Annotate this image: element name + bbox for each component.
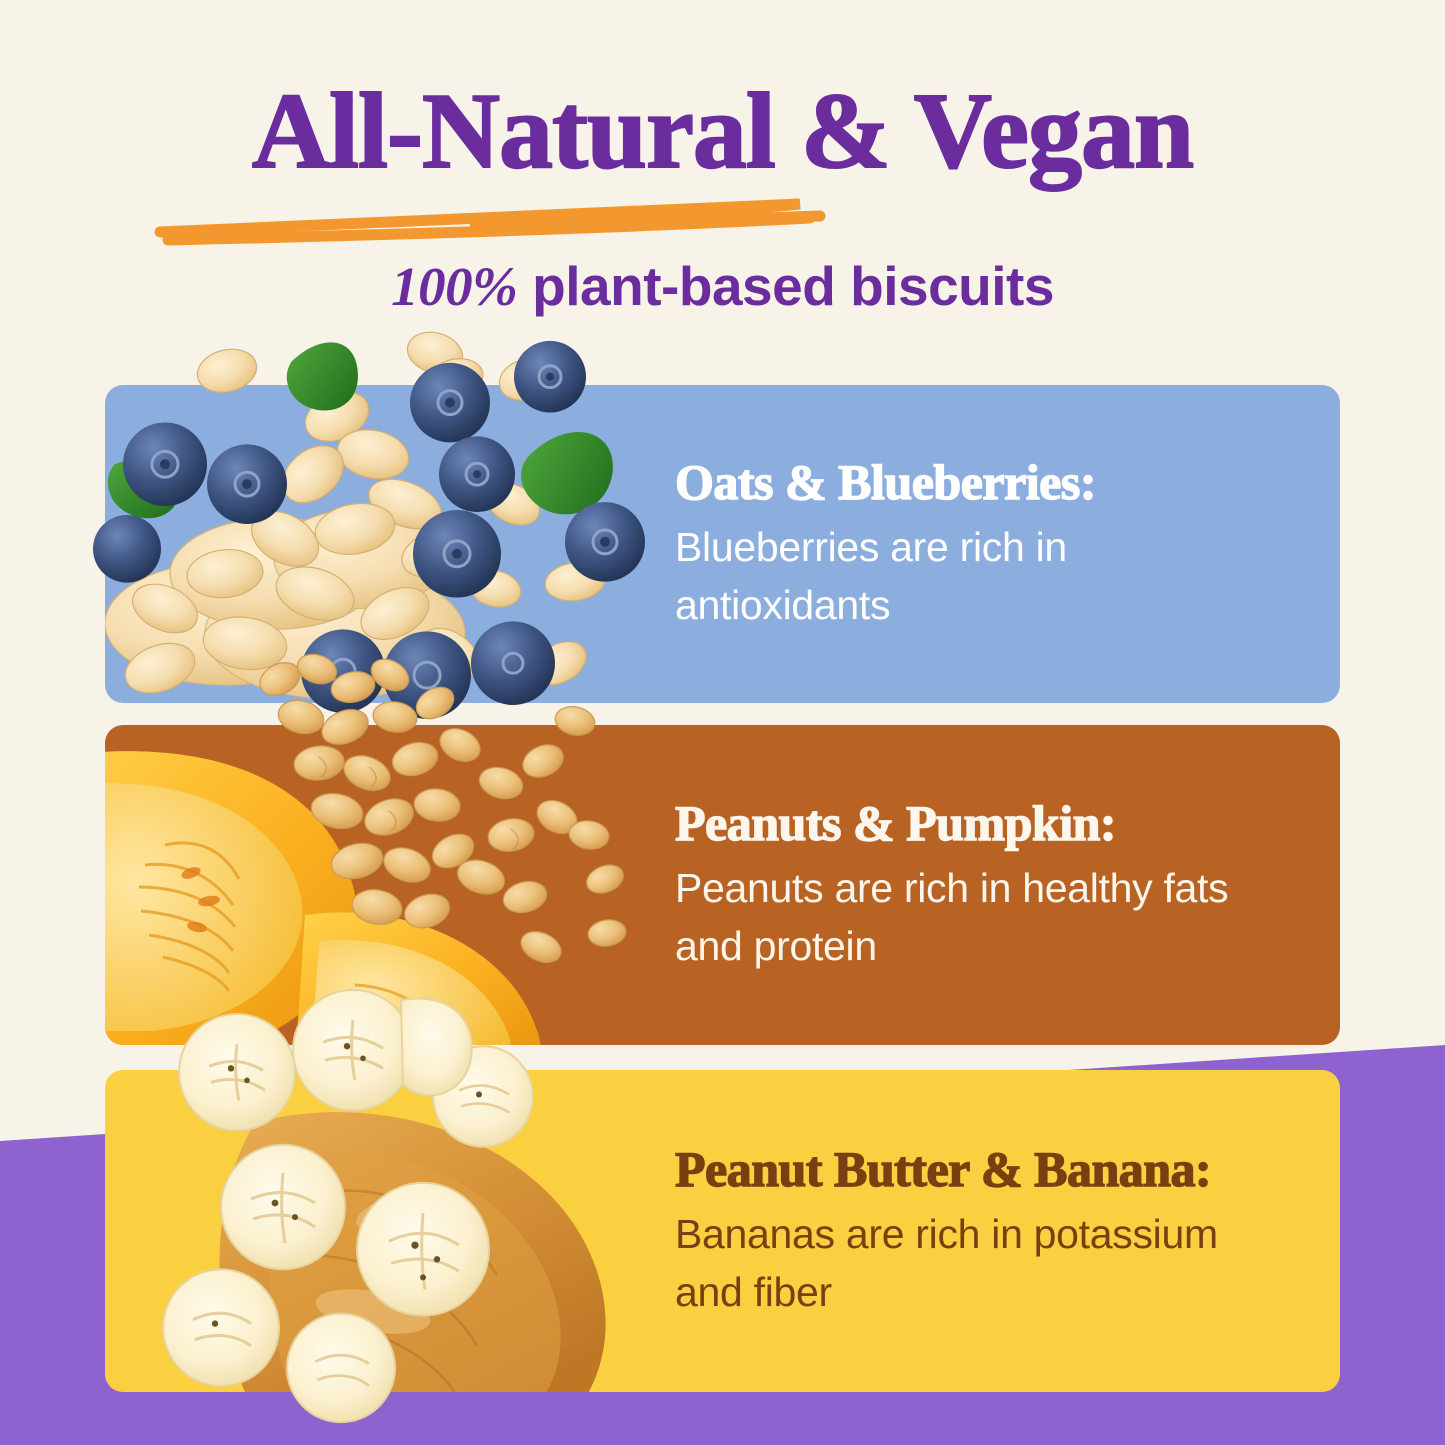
card-description: Bananas are rich in potassium and fiber bbox=[675, 1205, 1280, 1321]
subtitle-rest: plant-based biscuits bbox=[517, 255, 1054, 317]
card-title: Peanuts & Pumpkin: bbox=[675, 795, 1280, 851]
card-peanuts-pumpkin[interactable]: Peanuts & Pumpkin: Peanuts are rich in h… bbox=[105, 725, 1340, 1045]
card-title: Oats & Blueberries: bbox=[675, 454, 1280, 510]
underline-swoosh-wrapper bbox=[0, 188, 1445, 248]
page-subtitle: 100% plant-based biscuits bbox=[0, 254, 1445, 318]
card-text-oats-blueberries: Oats & Blueberries: Blueberries are rich… bbox=[675, 454, 1280, 634]
card-description: Peanuts are rich in healthy fats and pro… bbox=[675, 859, 1280, 975]
subtitle-percent: 100% bbox=[391, 256, 517, 317]
card-text-peanut-butter-banana: Peanut Butter & Banana: Bananas are rich… bbox=[675, 1141, 1280, 1321]
page-title: All-Natural & Vegan bbox=[0, 78, 1445, 186]
card-oats-blueberries[interactable]: Oats & Blueberries: Blueberries are rich… bbox=[105, 385, 1340, 703]
card-peanut-butter-banana[interactable]: Peanut Butter & Banana: Bananas are rich… bbox=[105, 1070, 1340, 1392]
card-description: Blueberries are rich in antioxidants bbox=[675, 518, 1280, 634]
infographic-stage: All-Natural & Vegan 100% plant-based bis… bbox=[0, 0, 1445, 1445]
header: All-Natural & Vegan 100% plant-based bis… bbox=[0, 0, 1445, 318]
underline-swoosh-icon bbox=[0, 188, 1445, 248]
card-title: Peanut Butter & Banana: bbox=[675, 1141, 1280, 1197]
card-text-peanuts-pumpkin: Peanuts & Pumpkin: Peanuts are rich in h… bbox=[675, 795, 1280, 975]
